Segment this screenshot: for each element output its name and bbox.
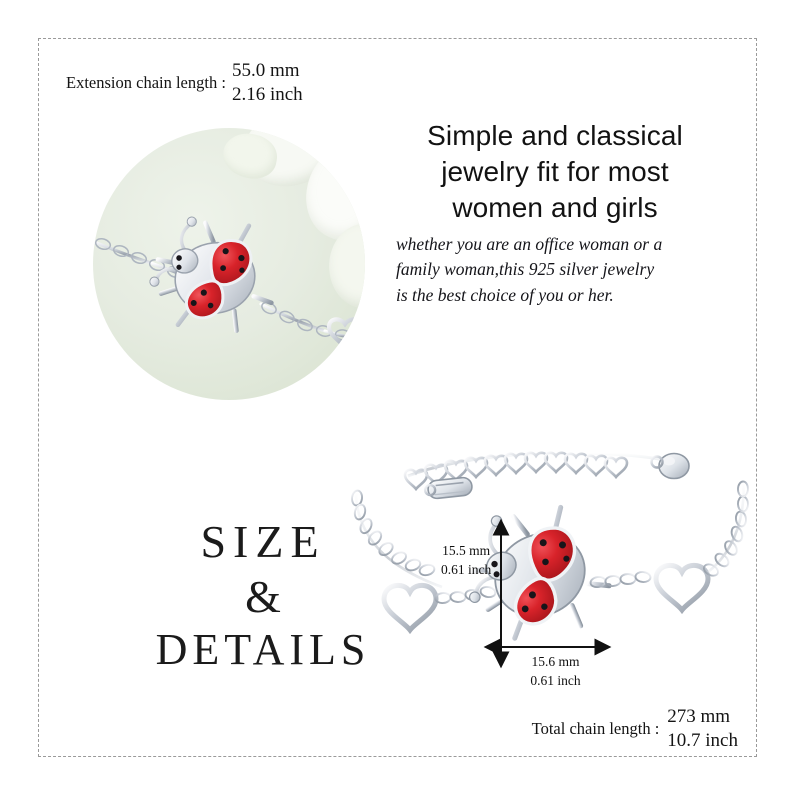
end-tag-charm: [652, 454, 690, 479]
total-chain-length-label: Total chain length :: [532, 721, 660, 738]
extension-chain-length-callout: Extension chain length : 55.0 mm 2.16 in…: [66, 60, 303, 107]
extension-length-inch: 2.16 inch: [232, 84, 303, 106]
headline-line-1: Simple and classical: [394, 118, 716, 154]
description-paragraph: whether you are an office woman or a fam…: [396, 232, 726, 308]
heart-link-left: [384, 585, 436, 630]
product-infographic: Extension chain length : 55.0 mm 2.16 in…: [0, 0, 800, 800]
width-dimension-label: 15.6 mm 0.61 inch: [493, 652, 618, 690]
height-dimension-label: 15.5 mm 0.61 inch: [441, 541, 491, 579]
ladybug-charm-icon: [138, 204, 275, 346]
total-chain-length-callout: Total chain length : 273 mm 10.7 inch: [532, 706, 738, 753]
extension-chain-length-values: 55.0 mm 2.16 inch: [232, 60, 303, 107]
headline-line-2: jewelry fit for most: [394, 154, 716, 190]
width-dimension-inch: 0.61 inch: [493, 671, 618, 690]
paragraph-line-3: is the best choice of you or her.: [396, 283, 726, 308]
total-chain-length-values: 273 mm 10.7 inch: [667, 706, 738, 753]
chain-left: [351, 490, 442, 587]
paragraph-line-2: family woman,this 925 silver jewelry: [396, 257, 726, 282]
total-length-mm: 273 mm: [667, 706, 738, 728]
extension-length-mm: 55.0 mm: [232, 60, 303, 82]
width-dimension-mm: 15.6 mm: [493, 652, 618, 671]
headline-line-3: women and girls: [394, 190, 716, 226]
height-dimension-inch: 0.61 inch: [441, 560, 491, 579]
lifestyle-photo-circle: [93, 128, 365, 400]
paragraph-line-1: whether you are an office woman or a: [396, 232, 726, 257]
total-length-inch: 10.7 inch: [667, 730, 738, 752]
extension-chain-length-label: Extension chain length :: [66, 75, 226, 92]
chain-right: [702, 481, 748, 578]
heart-link-icon: [329, 319, 361, 347]
heart-link-right: [656, 565, 708, 610]
bracelet-chain-photo: [93, 128, 365, 400]
headline: Simple and classical jewelry fit for mos…: [394, 118, 716, 225]
height-dimension-mm: 15.5 mm: [441, 541, 491, 560]
